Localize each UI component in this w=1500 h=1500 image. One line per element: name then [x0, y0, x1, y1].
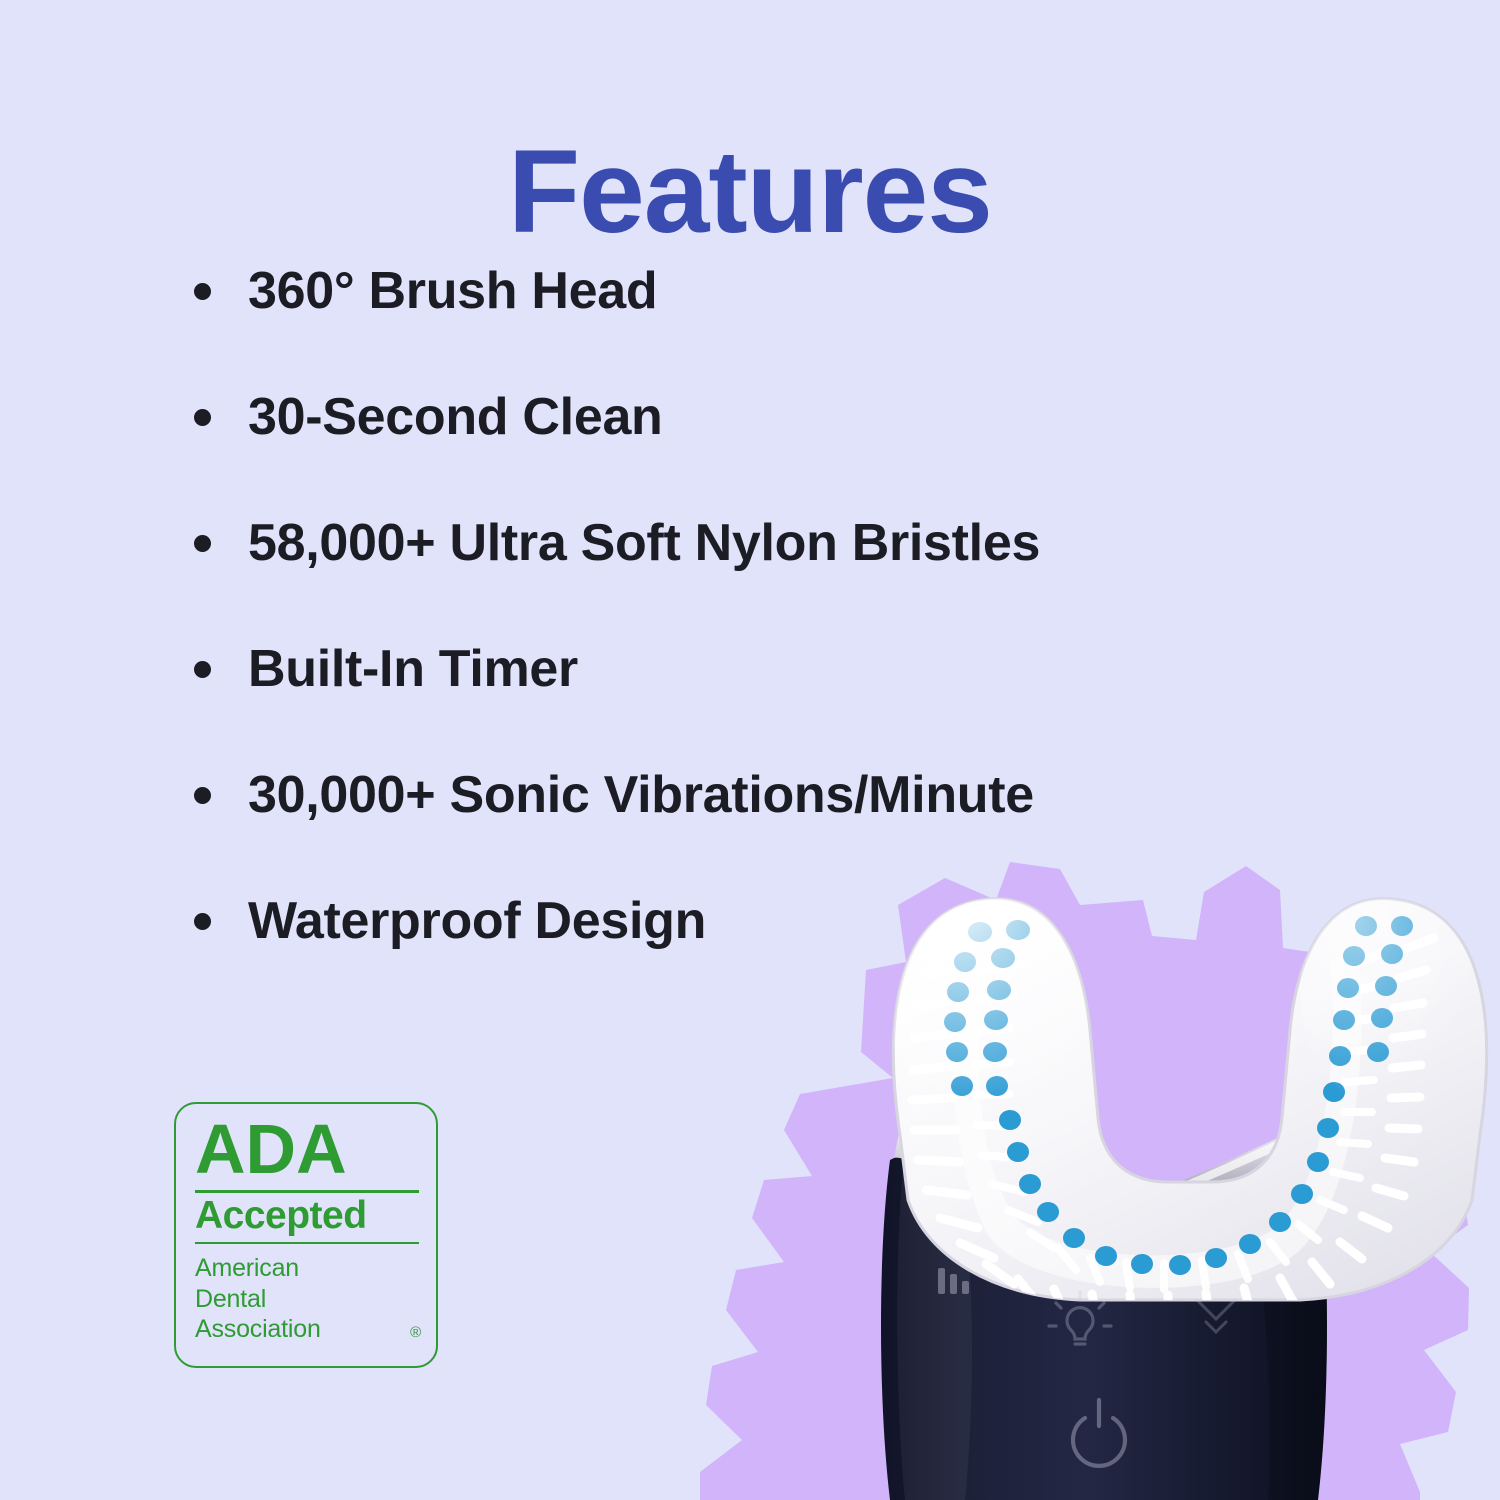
- ada-organization: American Dental Association ®: [195, 1253, 419, 1345]
- bullet-icon: [194, 409, 211, 426]
- feature-item: 30,000+ Sonic Vibrations/Minute: [186, 732, 1040, 858]
- handle-collar: [894, 1128, 1316, 1232]
- feature-label: 30-Second Clean: [248, 387, 663, 447]
- feature-label: 30,000+ Sonic Vibrations/Minute: [248, 765, 1034, 825]
- handle-icon-led-light: [1049, 1292, 1111, 1344]
- ada-accepted-word: Accepted: [195, 1196, 419, 1238]
- feature-label: Waterproof Design: [248, 891, 706, 951]
- ada-org-line-2: Dental: [195, 1284, 419, 1315]
- handle-icon-power: [1073, 1400, 1125, 1466]
- feature-item: Waterproof Design: [186, 858, 1040, 984]
- ada-divider-top: [195, 1190, 419, 1193]
- feature-label: Built-In Timer: [248, 639, 578, 699]
- feature-label: 58,000+ Ultra Soft Nylon Bristles: [248, 513, 1040, 573]
- feature-item: 360° Brush Head: [186, 228, 1040, 354]
- toothbrush-handle: [881, 1152, 1327, 1500]
- handle-icon-timer: [1197, 1300, 1235, 1332]
- poster-canvas: Features 360° Brush Head 30-Second Clean…: [0, 0, 1500, 1500]
- bullet-icon: [194, 787, 211, 804]
- ada-org-line-3: Association: [195, 1314, 419, 1345]
- feature-label: 360° Brush Head: [248, 261, 657, 321]
- feature-item: 58,000+ Ultra Soft Nylon Bristles: [186, 480, 1040, 606]
- ada-divider-bottom: [195, 1242, 419, 1245]
- bullet-icon: [194, 913, 211, 930]
- feature-item: 30-Second Clean: [186, 354, 1040, 480]
- registered-mark-icon: ®: [410, 1324, 421, 1342]
- ada-org-line-1: American: [195, 1253, 419, 1284]
- bullet-icon: [194, 661, 211, 678]
- bullet-icon: [194, 535, 211, 552]
- bullet-icon: [194, 283, 211, 300]
- feature-item: Built-In Timer: [186, 606, 1040, 732]
- feature-list: 360° Brush Head 30-Second Clean 58,000+ …: [186, 228, 1040, 984]
- handle-icon-battery-bars: [938, 1268, 969, 1294]
- ada-acronym: ADA: [195, 1114, 419, 1186]
- ada-accepted-badge: ADA Accepted American Dental Association…: [174, 1102, 438, 1368]
